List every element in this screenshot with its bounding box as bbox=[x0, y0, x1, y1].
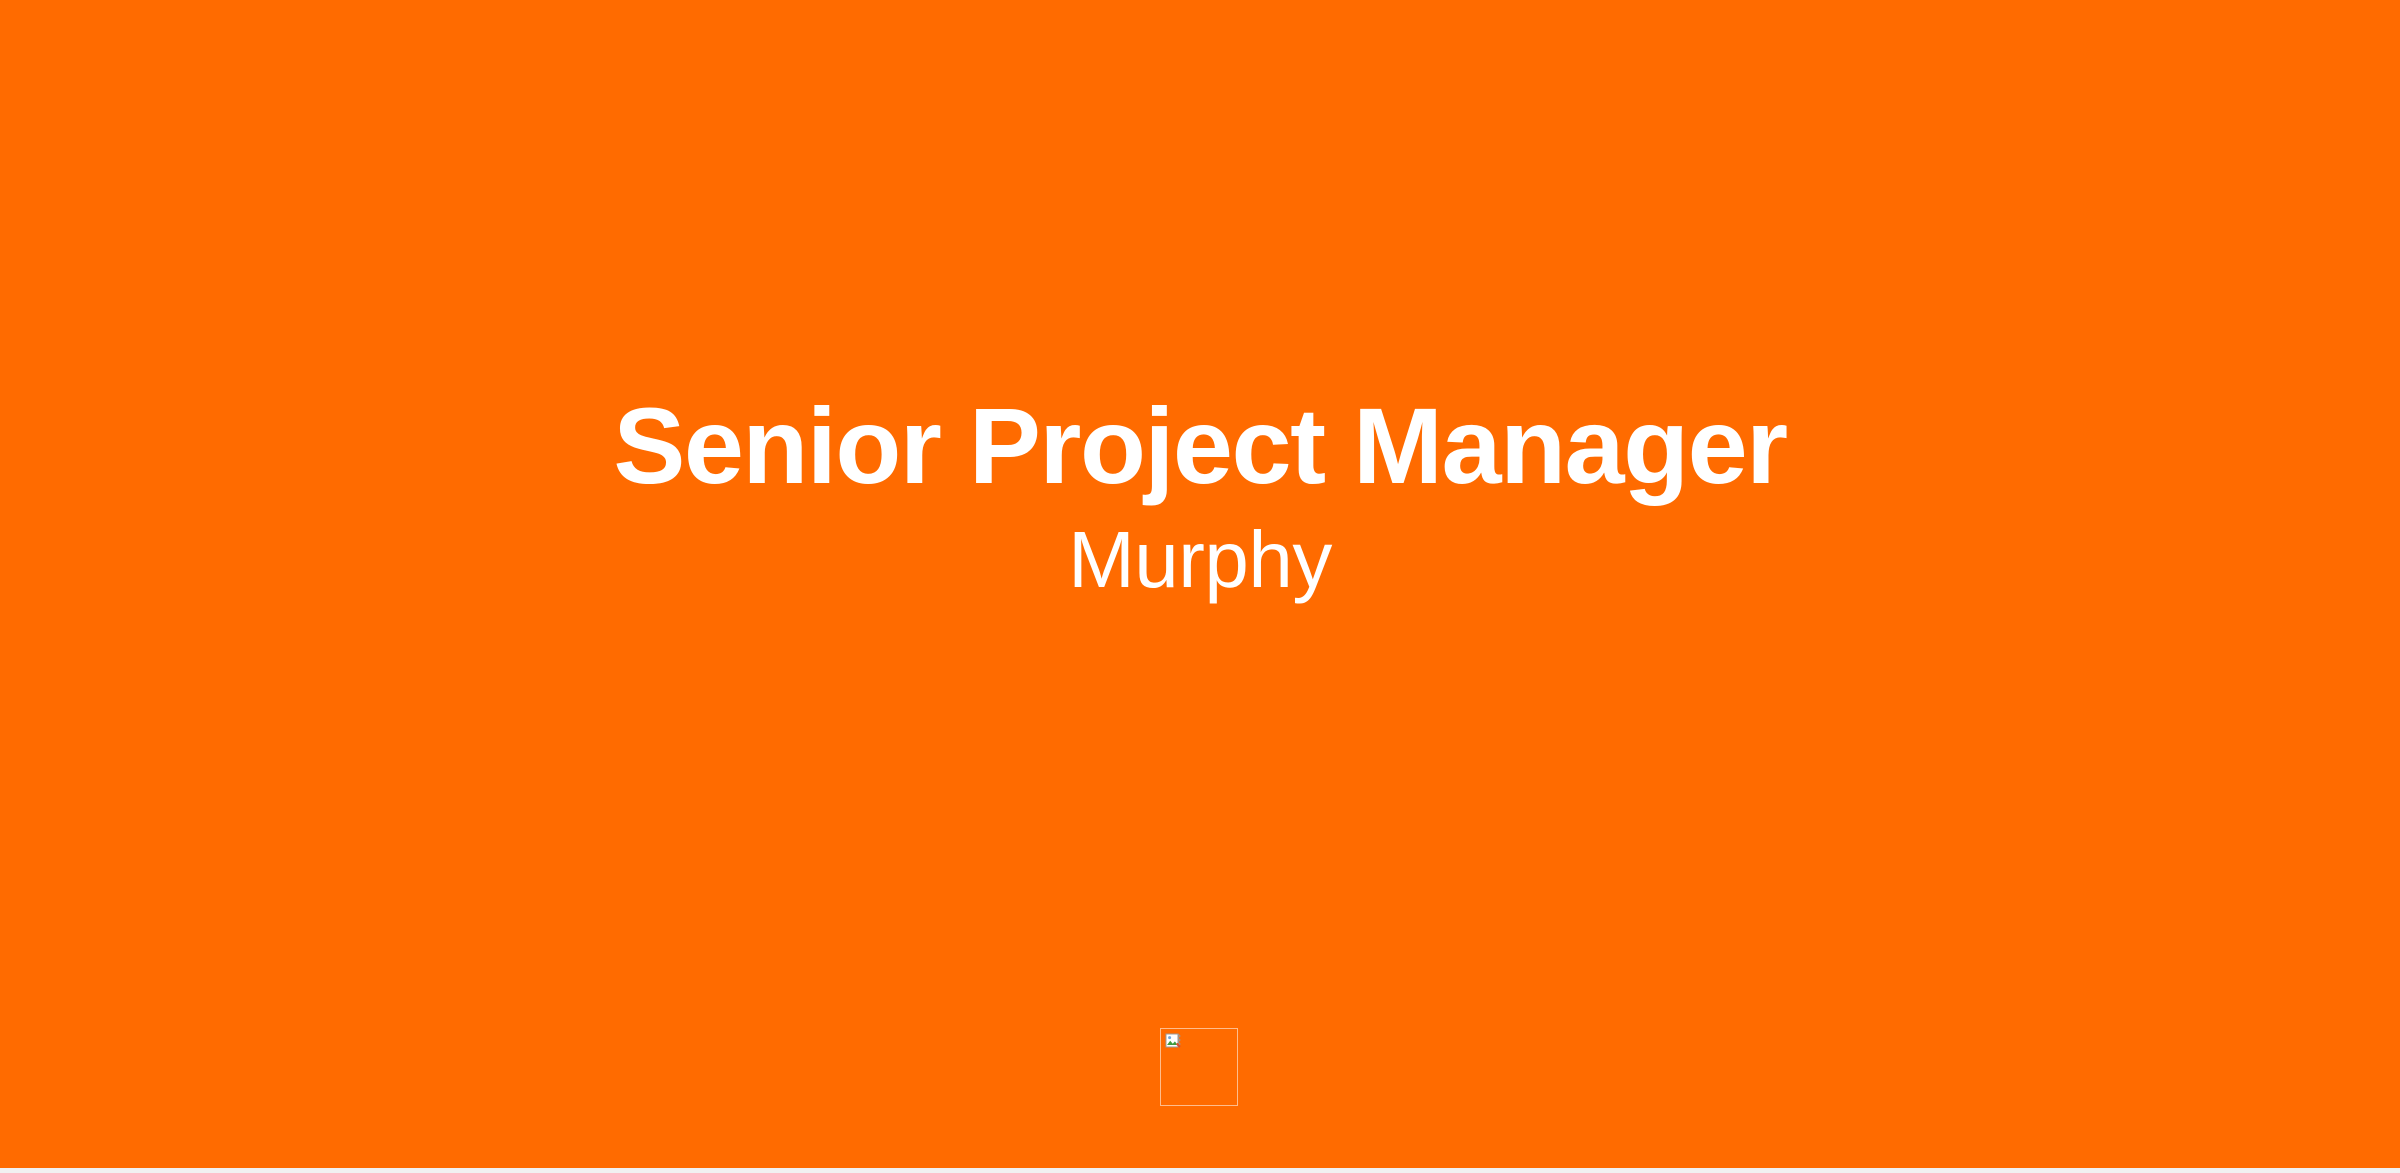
broken-image-placeholder bbox=[1160, 1028, 1238, 1106]
bottom-strip bbox=[0, 1168, 2400, 1173]
page-title: Senior Project Manager bbox=[0, 388, 2400, 505]
page-subtitle: Murphy bbox=[0, 505, 2400, 605]
broken-image-icon bbox=[1165, 1033, 1187, 1053]
hero-image-slot bbox=[1160, 1028, 1238, 1106]
hero-slide: Senior Project Manager Murphy bbox=[0, 0, 2400, 1168]
hero-text-block: Senior Project Manager Murphy bbox=[0, 388, 2400, 604]
